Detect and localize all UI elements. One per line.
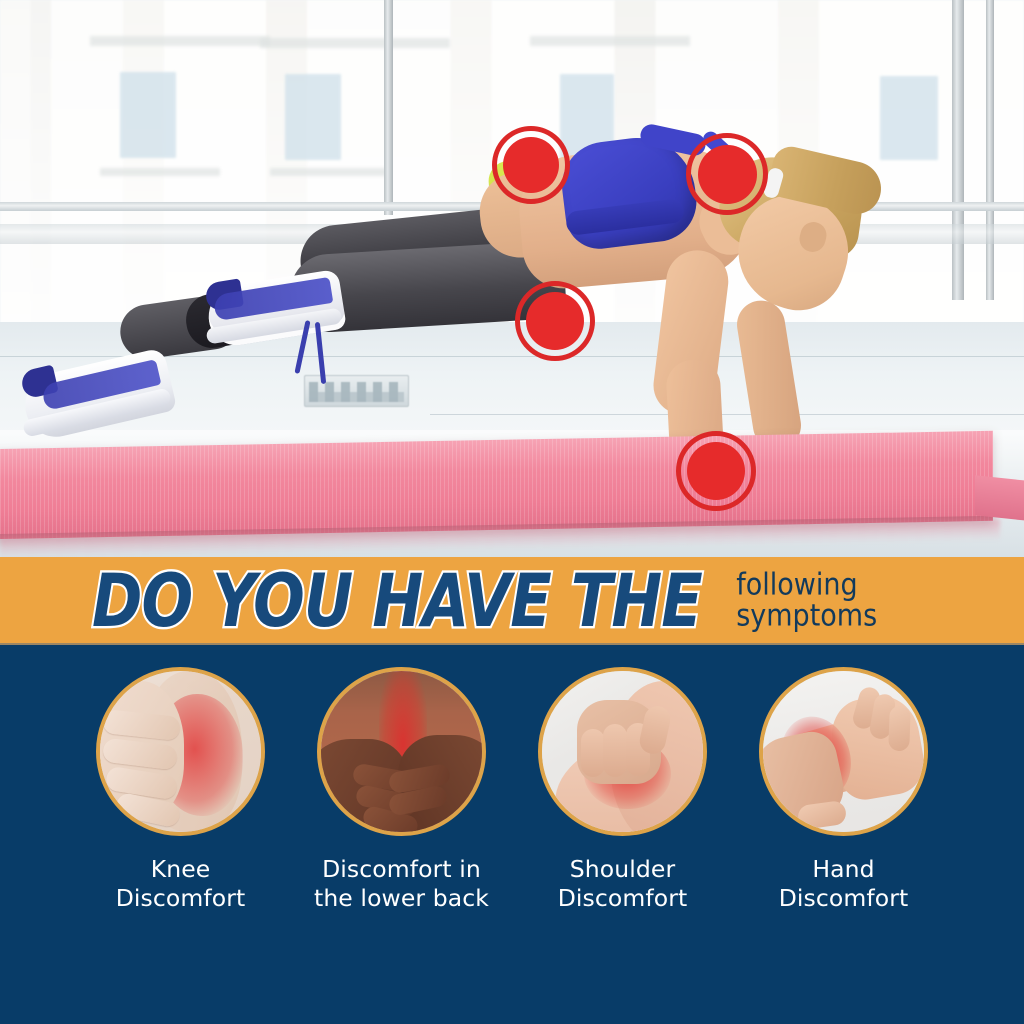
yoga-mat-tip — [975, 475, 1024, 520]
shoulder-marker[interactable] — [686, 133, 768, 215]
symptom-caption-shoulder: Shoulder Discomfort — [558, 855, 688, 912]
hand-marker[interactable] — [676, 431, 756, 511]
caption-line-1: Shoulder — [558, 855, 688, 884]
hero-photo — [0, 0, 1024, 557]
lower-back-marker[interactable] — [492, 126, 570, 204]
caption-line-2: the lower back — [314, 884, 489, 913]
symptom-card-back[interactable]: Discomfort in the lower back — [313, 667, 490, 912]
caption-line-1: Hand — [779, 855, 909, 884]
symptom-card-list: Knee Discomfort — [0, 645, 1024, 912]
symptom-card-knee[interactable]: Knee Discomfort — [92, 667, 269, 912]
subheadline-line-2: symptoms — [736, 601, 877, 632]
far-arm — [734, 297, 805, 453]
knee-pain-photo[interactable] — [96, 667, 265, 836]
headline-banner: DO YOU HAVE THE following symptoms — [0, 557, 1024, 645]
caption-line-2: Discomfort — [779, 884, 909, 913]
symptom-caption-back: Discomfort in the lower back — [314, 855, 489, 912]
caption-line-1: Knee — [116, 855, 246, 884]
symptoms-panel: Knee Discomfort — [0, 645, 1024, 1024]
caption-line-2: Discomfort — [116, 884, 246, 913]
headline-text: DO YOU HAVE THE — [92, 564, 702, 637]
caption-line-1: Discomfort in — [314, 855, 489, 884]
knee-marker[interactable] — [515, 281, 595, 361]
hand-pain-photo[interactable] — [759, 667, 928, 836]
symptom-card-hand[interactable]: Hand Discomfort — [755, 667, 932, 912]
symptom-caption-hand: Hand Discomfort — [779, 855, 909, 912]
subheadline-line-1: following — [736, 570, 877, 601]
subheadline-text: following symptoms — [736, 570, 877, 632]
caption-line-2: Discomfort — [558, 884, 688, 913]
lower-back-pain-photo[interactable] — [317, 667, 486, 836]
shoulder-pain-photo[interactable] — [538, 667, 707, 836]
poster: DO YOU HAVE THE following symptoms — [0, 0, 1024, 1024]
symptom-caption-knee: Knee Discomfort — [116, 855, 246, 912]
symptom-card-shoulder[interactable]: Shoulder Discomfort — [534, 667, 711, 912]
